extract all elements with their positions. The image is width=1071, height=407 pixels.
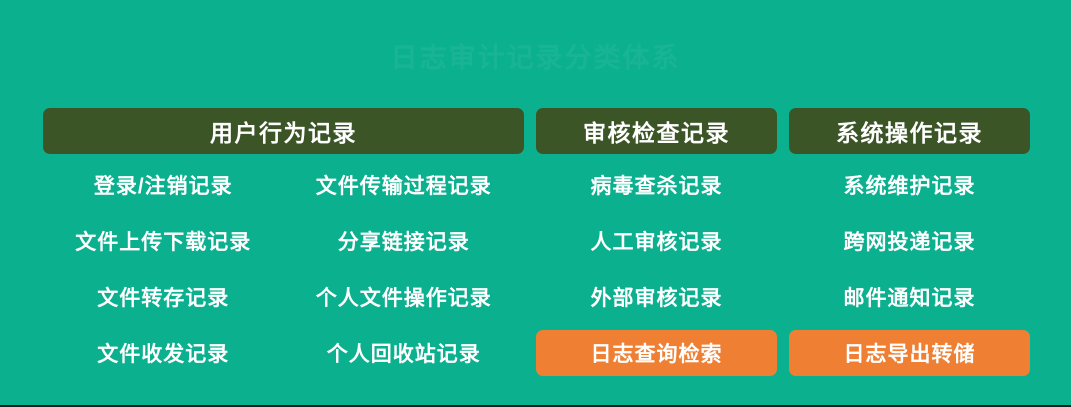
page-title: 日志审计记录分类体系 [0,36,1071,75]
log-categories-board: 用户行为记录登录/注销记录文件上传下载记录文件转存记录文件收发记录文件传输过程记… [43,108,1030,386]
group-body: 登录/注销记录文件上传下载记录文件转存记录文件收发记录文件传输过程记录分享链接记… [43,162,524,386]
list-item[interactable]: 登录/注销记录 [43,162,284,208]
group-header[interactable]: 审核检查记录 [536,108,777,154]
list-item[interactable]: 人工审核记录 [536,218,777,264]
list-item[interactable]: 邮件通知记录 [789,274,1030,320]
list-item[interactable]: 文件上传下载记录 [43,218,284,264]
list-item[interactable]: 文件传输过程记录 [284,162,525,208]
group-subcolumn: 病毒查杀记录人工审核记录外部审核记录日志查询检索 [536,162,777,386]
list-item[interactable]: 个人回收站记录 [284,330,525,376]
group-subcolumn: 登录/注销记录文件上传下载记录文件转存记录文件收发记录 [43,162,284,386]
list-item[interactable]: 文件收发记录 [43,330,284,376]
category-group: 用户行为记录登录/注销记录文件上传下载记录文件转存记录文件收发记录文件传输过程记… [43,108,524,386]
group-body: 系统维护记录跨网投递记录邮件通知记录日志导出转储 [789,162,1030,386]
list-item[interactable]: 文件转存记录 [43,274,284,320]
list-item-highlighted[interactable]: 日志导出转储 [789,330,1030,376]
slide-root: 日志审计记录分类体系 用户行为记录登录/注销记录文件上传下载记录文件转存记录文件… [0,0,1071,407]
list-item[interactable]: 外部审核记录 [536,274,777,320]
group-body: 病毒查杀记录人工审核记录外部审核记录日志查询检索 [536,162,777,386]
category-group: 系统操作记录系统维护记录跨网投递记录邮件通知记录日志导出转储 [789,108,1030,386]
list-item[interactable]: 个人文件操作记录 [284,274,525,320]
list-item[interactable]: 系统维护记录 [789,162,1030,208]
list-item[interactable]: 病毒查杀记录 [536,162,777,208]
group-header[interactable]: 系统操作记录 [789,108,1030,154]
list-item[interactable]: 分享链接记录 [284,218,525,264]
category-group: 审核检查记录病毒查杀记录人工审核记录外部审核记录日志查询检索 [536,108,777,386]
group-subcolumn: 系统维护记录跨网投递记录邮件通知记录日志导出转储 [789,162,1030,386]
list-item-highlighted[interactable]: 日志查询检索 [536,330,777,376]
group-header[interactable]: 用户行为记录 [43,108,524,154]
group-subcolumn: 文件传输过程记录分享链接记录个人文件操作记录个人回收站记录 [284,162,525,386]
list-item[interactable]: 跨网投递记录 [789,218,1030,264]
